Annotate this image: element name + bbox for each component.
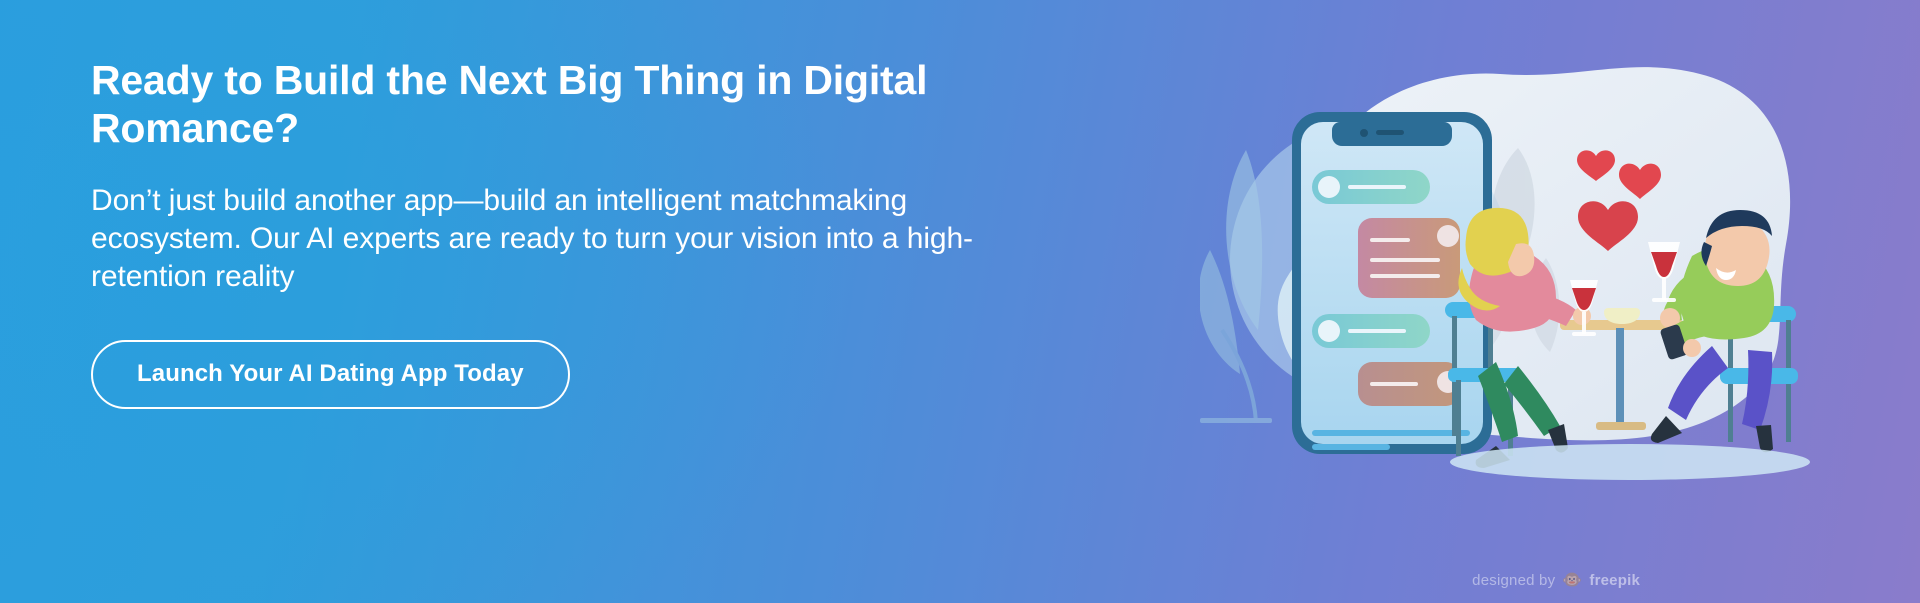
ground-shadow <box>1450 444 1810 480</box>
freepik-monkey-icon: 🐵 <box>1562 573 1582 589</box>
credit-prefix: designed by <box>1472 572 1555 589</box>
freepik-attribution: designed by 🐵 freepik <box>1472 572 1640 589</box>
subheadline: Don’t just build another app—build an in… <box>91 152 1051 296</box>
cta-banner: Ready to Build the Next Big Thing in Dig… <box>0 0 1920 603</box>
chat-bubble-right-1 <box>1358 218 1460 298</box>
chat-bubble-right-2 <box>1358 362 1460 406</box>
page-title: Ready to Build the Next Big Thing in Dig… <box>91 56 1081 152</box>
credit-brand: freepik <box>1589 572 1640 589</box>
chat-bubble-left-2 <box>1312 314 1430 348</box>
launch-dating-app-button[interactable]: Launch Your AI Dating App Today <box>91 340 570 409</box>
chat-bubble-left-1 <box>1312 170 1430 204</box>
copy-block: Ready to Build the Next Big Thing in Dig… <box>91 56 1081 409</box>
online-dating-illustration <box>1200 30 1820 510</box>
